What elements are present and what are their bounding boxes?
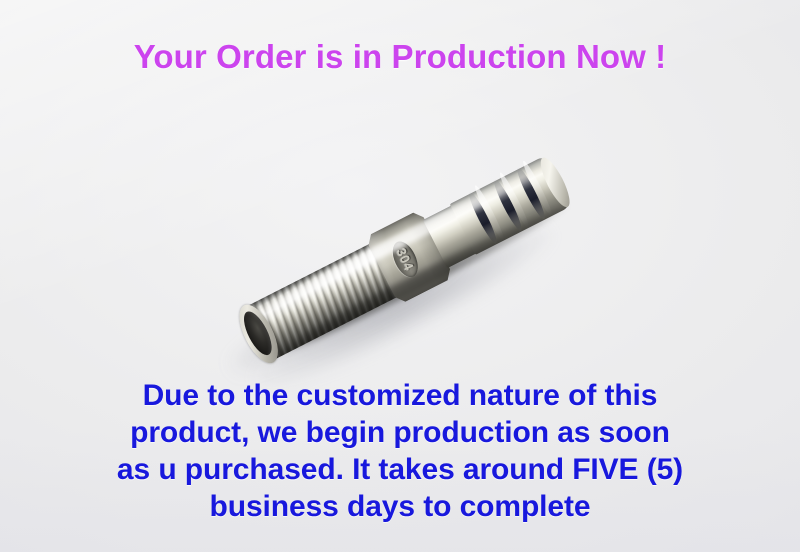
product-photo: 304: [190, 130, 620, 380]
notice-line-4: business days to complete: [0, 488, 800, 525]
notice-line-1: Due to the customized nature of this: [0, 377, 800, 414]
notice-line-3: as u purchased. It takes around FIVE (5): [0, 451, 800, 488]
page-title: Your Order is in Production Now !: [0, 38, 800, 76]
promo-banner: Your Order is in Production Now ! 304: [0, 0, 800, 552]
stamp-oval: 304: [388, 237, 423, 280]
stamp-text: 304: [395, 246, 417, 273]
notice-line-2: product, we begin production as soon: [0, 414, 800, 451]
production-notice: Due to the customized nature of this pro…: [0, 377, 800, 525]
